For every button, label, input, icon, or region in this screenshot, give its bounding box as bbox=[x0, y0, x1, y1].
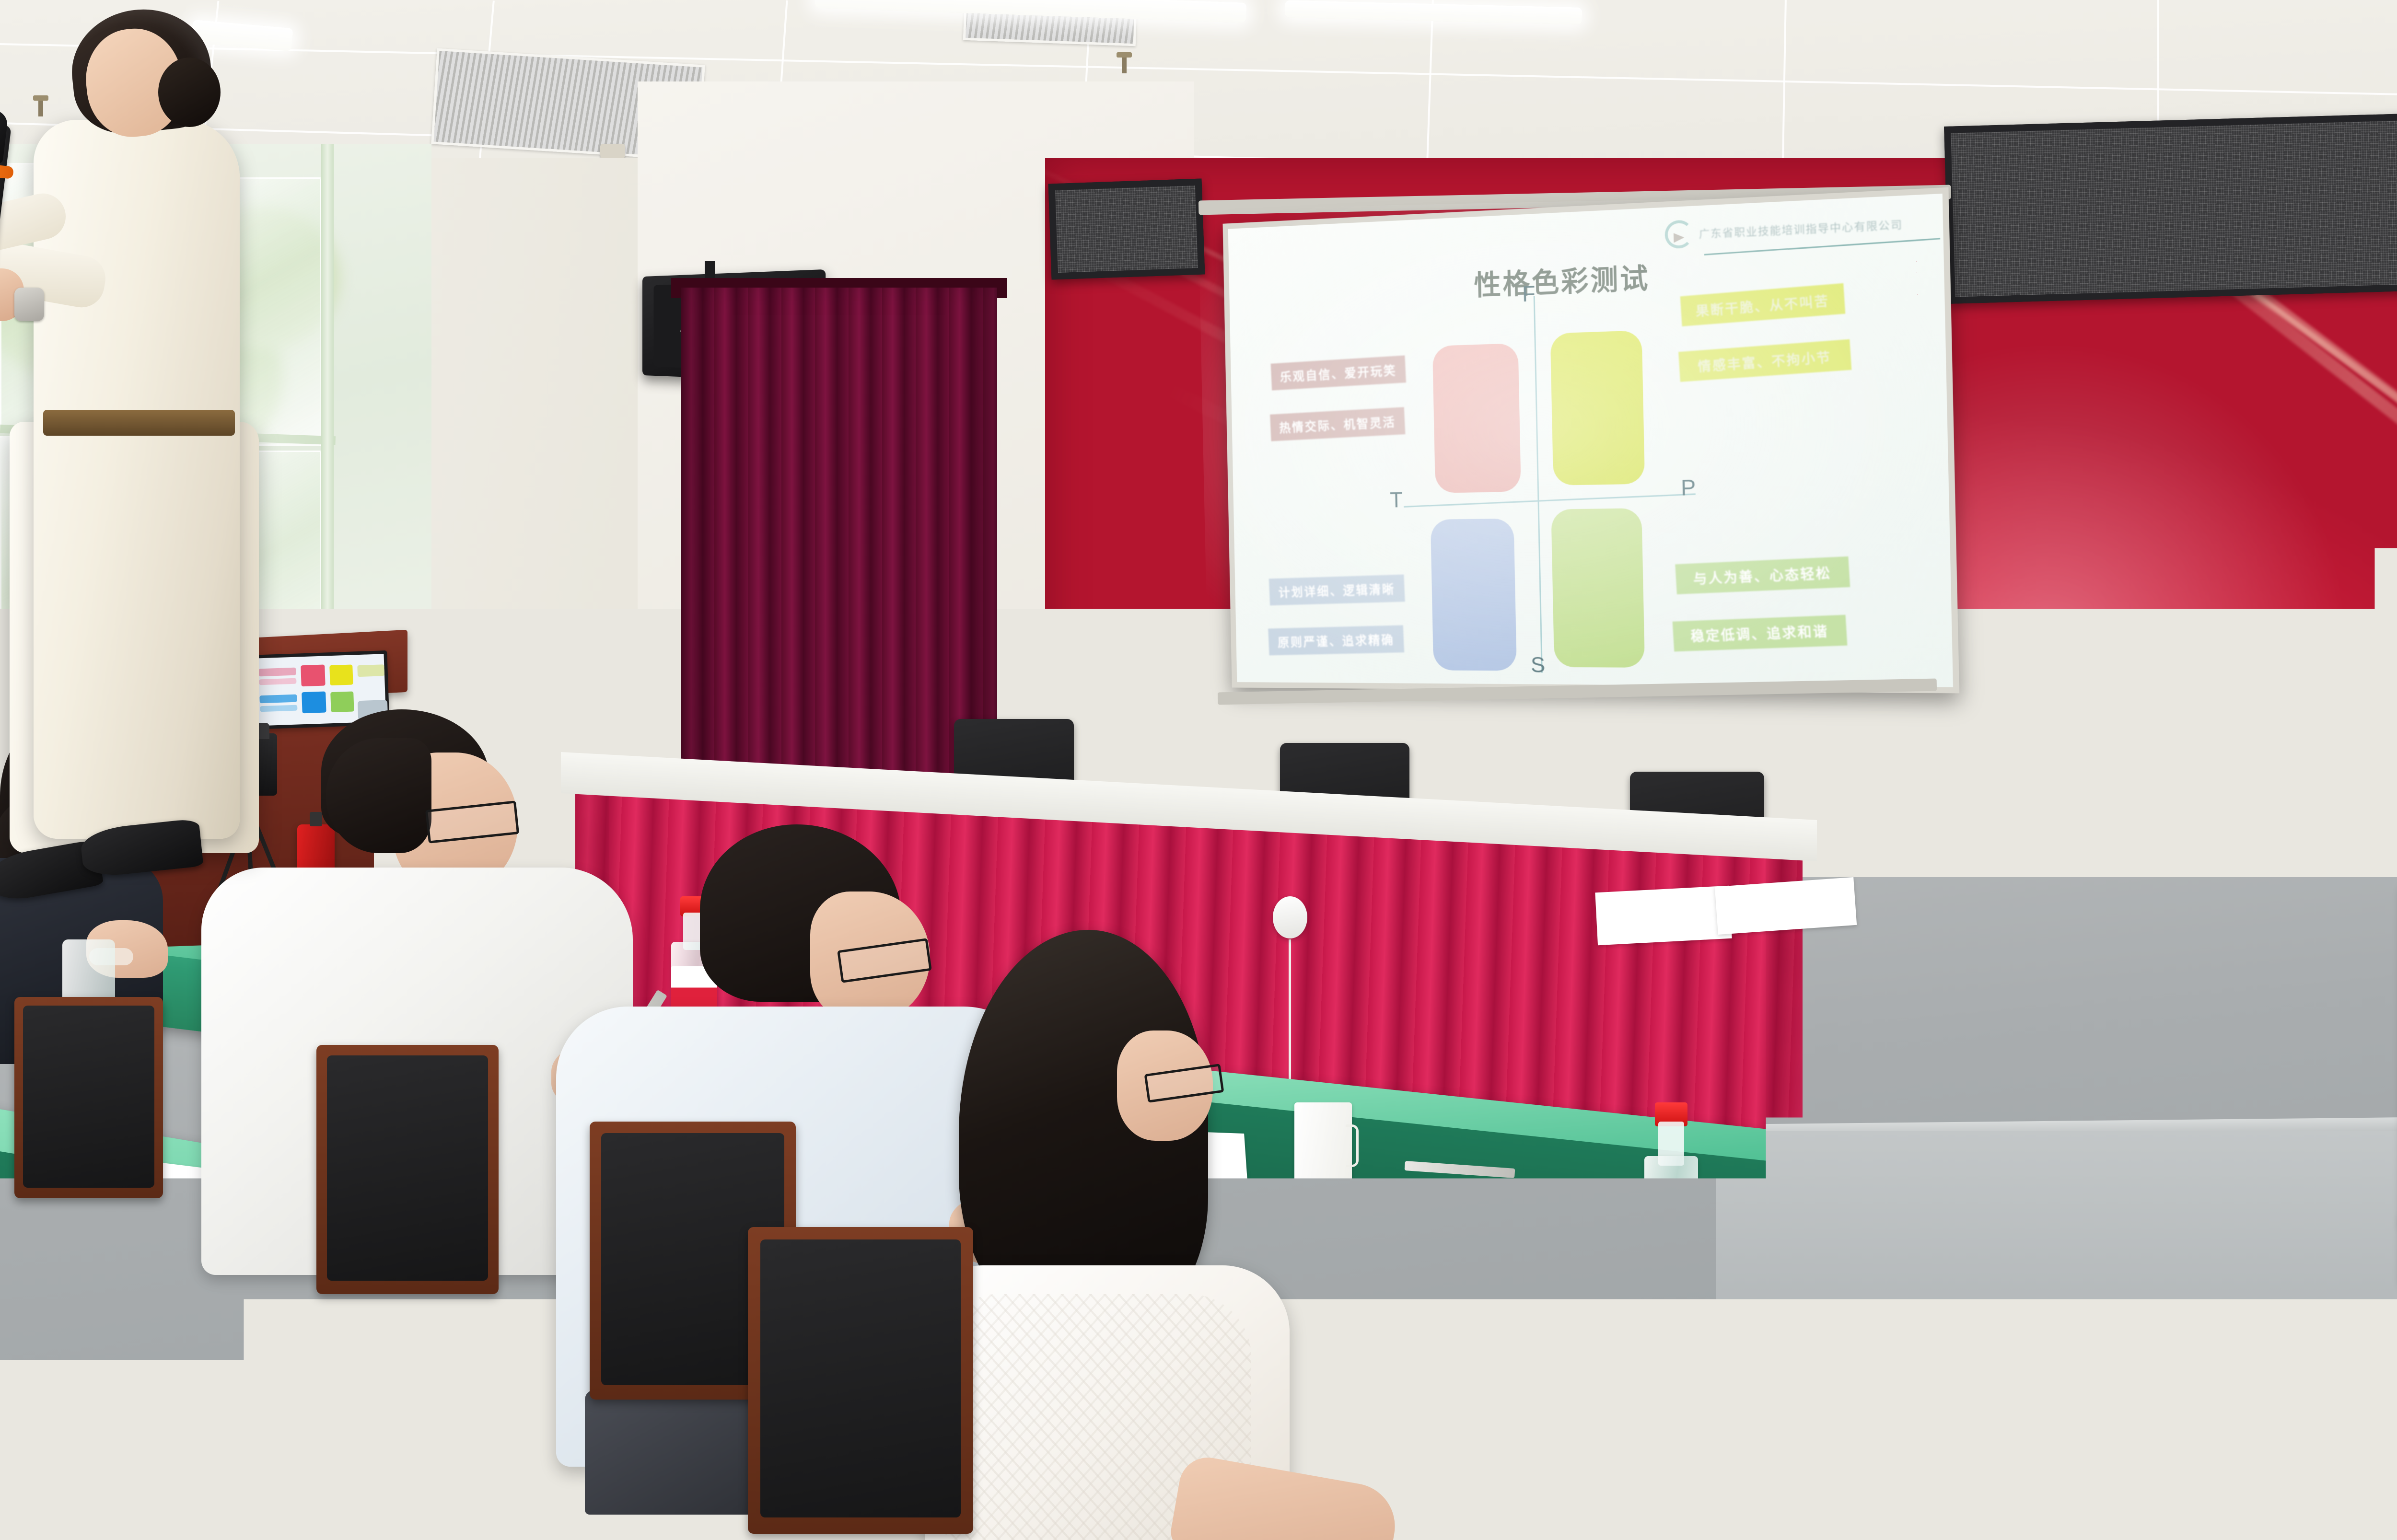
slide-axis-label-s: S bbox=[1530, 652, 1545, 678]
lectern-swatch bbox=[258, 668, 296, 677]
slide-tag-red-1: 乐观自信、爱开玩笑 bbox=[1271, 355, 1406, 390]
wall-acoustic-panel bbox=[1944, 113, 2397, 304]
ceiling-light-panel bbox=[1285, 0, 1582, 24]
document-sheet[interactable] bbox=[1715, 877, 1857, 935]
slide-quadrant-yellow bbox=[1550, 330, 1645, 486]
presenter-dress bbox=[34, 120, 240, 839]
wooden-chair[interactable] bbox=[14, 997, 173, 1294]
wall-acoustic-panel bbox=[1048, 178, 1205, 279]
slide-tag-blue-2: 原则严谨、追求精确 bbox=[1268, 625, 1404, 655]
company-logo-icon bbox=[1664, 220, 1693, 249]
projection-screen: 广东省职业技能培训指导中心有限公司 性格色彩测试 F S T P 乐观自信、爱开… bbox=[1222, 187, 1959, 694]
ceiling-light-panel bbox=[191, 20, 293, 51]
stage-platform bbox=[1716, 1131, 2397, 1400]
slide-axis-label-t: T bbox=[1390, 487, 1403, 512]
lectern-swatch bbox=[329, 665, 353, 686]
sprinkler-head bbox=[38, 98, 43, 116]
slide-quadrant-green bbox=[1551, 508, 1645, 668]
presenter-hair-bun bbox=[158, 58, 221, 127]
slide-tag-yellow-2: 情感丰富、不拘小节 bbox=[1678, 339, 1851, 382]
slide-axis-vertical bbox=[1534, 296, 1543, 672]
slide-tag-red-2: 热情交际、机智灵活 bbox=[1270, 407, 1405, 441]
slide-axis-label-p: P bbox=[1681, 475, 1696, 501]
training-room-photo: 2025 年 06 月 06 星期 4 15:55:1 广东省职业技能培训指导中… bbox=[0, 0, 2397, 1540]
smartwatch[interactable] bbox=[14, 288, 44, 321]
document-sheet[interactable] bbox=[1595, 886, 1732, 946]
slide-logo-text: 广东省职业技能培训指导中心有限公司 bbox=[1699, 216, 1903, 242]
slide-quadrant-red bbox=[1432, 343, 1521, 493]
lectern-swatch bbox=[357, 664, 384, 677]
slide-axis-label-f: F bbox=[1522, 280, 1536, 307]
slide-tag-blue-1: 计划详细、逻辑清晰 bbox=[1269, 575, 1405, 606]
lectern-swatch bbox=[259, 695, 297, 704]
wooden-chair[interactable] bbox=[38, 1428, 288, 1540]
document-sheet[interactable] bbox=[1479, 1189, 1666, 1295]
slide-tag-green-2: 稳定低调、追求和谐 bbox=[1673, 615, 1848, 652]
lectern-swatch bbox=[259, 678, 296, 685]
wooden-chair[interactable] bbox=[316, 1045, 508, 1390]
slide-quadrant-blue bbox=[1431, 519, 1517, 671]
wooden-chair[interactable] bbox=[748, 1227, 988, 1540]
slide-tag-yellow-1: 果断干脆、从不叫苦 bbox=[1680, 283, 1846, 326]
lectern-swatch bbox=[301, 665, 326, 687]
speaker-mount-bracket bbox=[705, 261, 715, 278]
sprinkler-head bbox=[1122, 55, 1127, 73]
presenter-belt bbox=[43, 410, 235, 436]
slide-title: 性格色彩测试 bbox=[1474, 255, 1650, 303]
slide-tag-green-1: 与人为善、心态轻松 bbox=[1675, 556, 1850, 594]
slide-axis-horizontal bbox=[1404, 493, 1696, 507]
slide-content: 广东省职业技能培训指导中心有限公司 性格色彩测试 F S T P 乐观自信、爱开… bbox=[1228, 194, 1953, 687]
